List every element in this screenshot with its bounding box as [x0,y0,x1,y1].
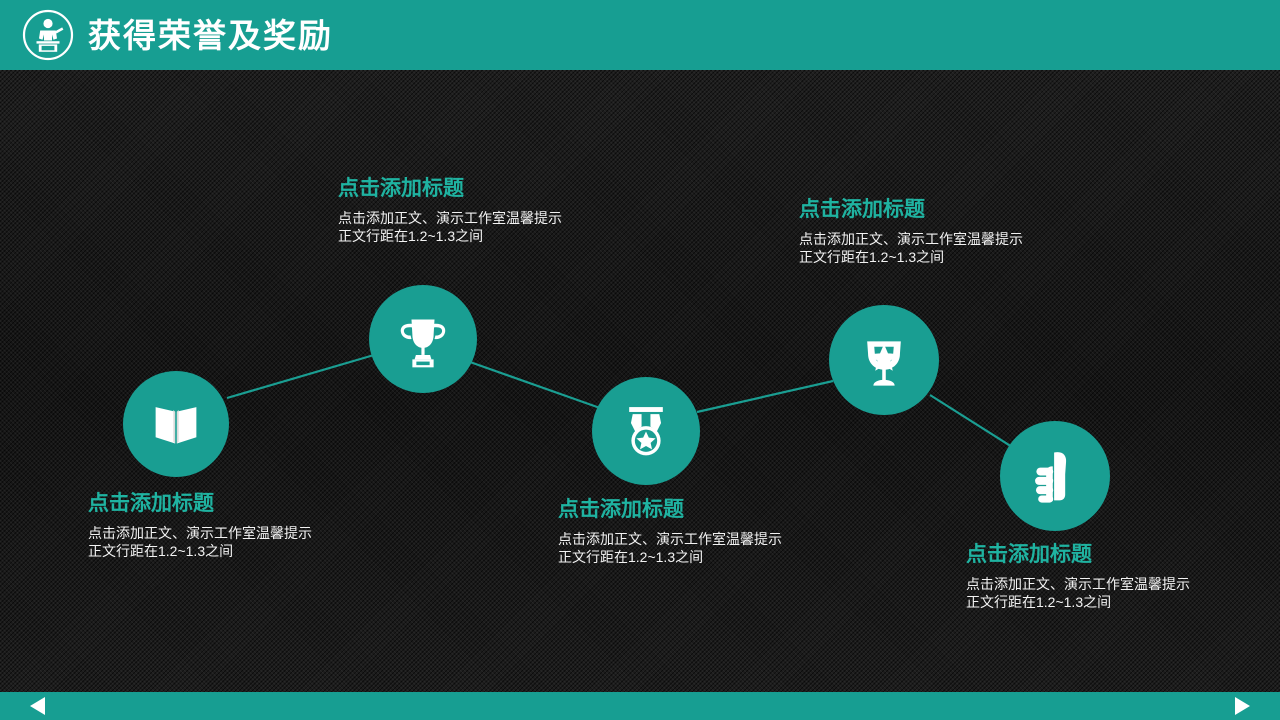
thumbs-up-icon [1024,445,1086,507]
text-block-3: 点击添加标题 点击添加正文、演示工作室温馨提示 正文行距在1.2~1.3之间 [558,497,782,567]
trophy-cup-icon [392,308,454,370]
block-title: 点击添加标题 [338,176,562,201]
block-title: 点击添加标题 [966,542,1190,567]
slide-footer [0,692,1280,720]
block-body-line-1: 点击添加正文、演示工作室温馨提示 [799,231,1023,249]
medal-star-icon [615,400,677,462]
block-body-line-2: 正文行距在1.2~1.3之间 [558,549,782,567]
slide-header: 获得荣誉及奖励 [0,0,1280,70]
triangle-left-icon[interactable] [30,697,45,715]
slide-canvas: 获得荣誉及奖励 [0,0,1280,720]
block-body-line-2: 正文行距在1.2~1.3之间 [88,543,312,561]
node-trophy-cup[interactable] [369,285,477,393]
block-title: 点击添加标题 [88,491,312,516]
block-body-line-1: 点击添加正文、演示工作室温馨提示 [88,525,312,543]
page-title: 获得荣誉及奖励 [88,19,333,52]
block-body-line-2: 正文行距在1.2~1.3之间 [338,228,562,246]
text-block-1: 点击添加标题 点击添加正文、演示工作室温馨提示 正文行距在1.2~1.3之间 [88,491,312,561]
node-open-book[interactable] [123,371,229,477]
node-medal-star[interactable] [592,377,700,485]
node-star-trophy[interactable] [829,305,939,415]
text-block-5: 点击添加标题 点击添加正文、演示工作室温馨提示 正文行距在1.2~1.3之间 [966,542,1190,612]
star-trophy-icon [853,329,915,391]
block-body-line-1: 点击添加正文、演示工作室温馨提示 [338,210,562,228]
node-thumbs-up[interactable] [1000,421,1110,531]
block-body-line-1: 点击添加正文、演示工作室温馨提示 [558,531,782,549]
block-title: 点击添加标题 [799,197,1023,222]
text-block-4: 点击添加标题 点击添加正文、演示工作室温馨提示 正文行距在1.2~1.3之间 [799,197,1023,267]
triangle-right-icon[interactable] [1235,697,1250,715]
block-title: 点击添加标题 [558,497,782,522]
text-block-2: 点击添加标题 点击添加正文、演示工作室温馨提示 正文行距在1.2~1.3之间 [338,176,562,246]
block-body-line-2: 正文行距在1.2~1.3之间 [966,594,1190,612]
background-texture [0,0,1280,720]
podium-speaker-icon [22,9,74,61]
block-body-line-2: 正文行距在1.2~1.3之间 [799,249,1023,267]
open-book-icon [145,393,207,455]
block-body-line-1: 点击添加正文、演示工作室温馨提示 [966,576,1190,594]
